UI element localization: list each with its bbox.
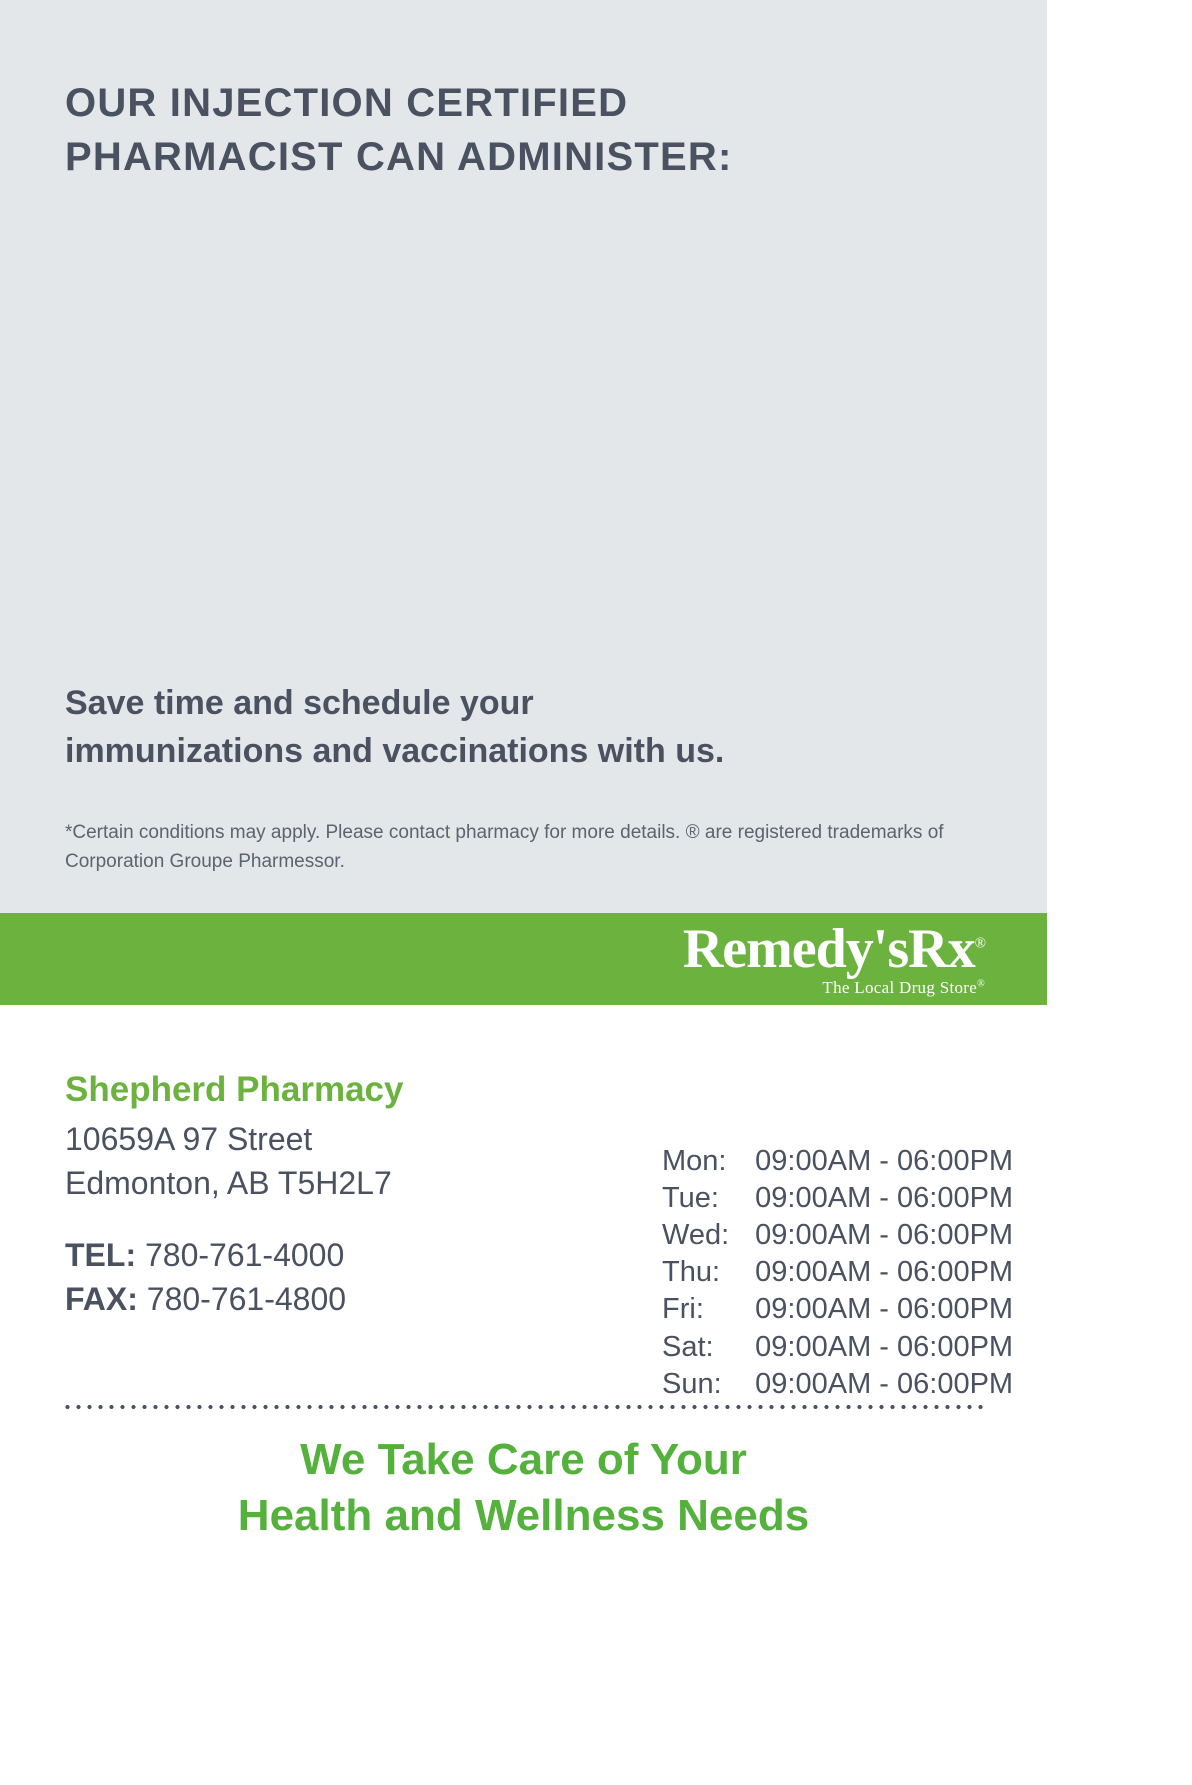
table-row: Fri: 09:00AM - 06:00PM xyxy=(662,1291,1013,1328)
fax-label: FAX: xyxy=(65,1281,138,1317)
disclaimer-line-1: *Certain conditions may apply. Please co… xyxy=(65,818,980,847)
telephone-line: TEL: 780-761-4000 xyxy=(65,1233,605,1277)
hours-day-label: Mon: xyxy=(662,1143,755,1180)
logo-tagline-text: The Local Drug Store xyxy=(822,978,977,997)
hours-time-value: 09:00AM - 06:00PM xyxy=(755,1143,1013,1180)
table-row: Mon: 09:00AM - 06:00PM xyxy=(662,1143,1013,1180)
logo-tagline: The Local Drug Store® xyxy=(683,979,985,996)
hours-day-label: Tue: xyxy=(662,1180,755,1217)
logo-wordmark: Remedy'sRx® xyxy=(683,921,985,977)
table-row: Tue: 09:00AM - 06:00PM xyxy=(662,1180,1013,1217)
logo-wordmark-text: Remedy'sRx xyxy=(683,918,975,980)
fax-value: 780-761-4800 xyxy=(147,1281,346,1317)
bottom-tagline: We Take Care of Your Health and Wellness… xyxy=(0,1432,1047,1545)
hours-time-value: 09:00AM - 06:00PM xyxy=(755,1254,1013,1291)
hours-time-value: 09:00AM - 06:00PM xyxy=(755,1329,1013,1366)
page-title: OUR INJECTION CERTIFIED PHARMACIST CAN A… xyxy=(65,76,965,184)
telephone-label: TEL: xyxy=(65,1237,136,1273)
hours-time-value: 09:00AM - 06:00PM xyxy=(755,1291,1013,1328)
top-panel: OUR INJECTION CERTIFIED PHARMACIST CAN A… xyxy=(0,0,1047,913)
address-line-1: 10659A 97 Street xyxy=(65,1117,605,1161)
info-section: Shepherd Pharmacy 10659A 97 Street Edmon… xyxy=(0,1005,1047,1785)
store-info-block: Shepherd Pharmacy 10659A 97 Street Edmon… xyxy=(65,1067,605,1321)
hours-time-value: 09:00AM - 06:00PM xyxy=(755,1217,1013,1254)
bottom-tagline-line-1: We Take Care of Your xyxy=(0,1432,1047,1488)
tagline-registered-trademark-icon: ® xyxy=(977,978,985,989)
hours-day-label: Wed: xyxy=(662,1217,755,1254)
store-hours-body: Mon: 09:00AM - 06:00PM Tue: 09:00AM - 06… xyxy=(662,1143,1013,1403)
hours-day-label: Sun: xyxy=(662,1366,755,1403)
store-address: 10659A 97 Street Edmonton, AB T5H2L7 xyxy=(65,1117,605,1205)
registered-trademark-icon: ® xyxy=(975,935,985,951)
hours-day-label: Fri: xyxy=(662,1291,755,1328)
fax-line: FAX: 780-761-4800 xyxy=(65,1277,605,1321)
dotted-divider xyxy=(62,1404,987,1410)
subheading: Save time and schedule your immunization… xyxy=(65,680,925,775)
store-contact: TEL: 780-761-4000 FAX: 780-761-4800 xyxy=(65,1233,605,1321)
flyer-page: OUR INJECTION CERTIFIED PHARMACIST CAN A… xyxy=(0,0,1047,1785)
table-row: Sat: 09:00AM - 06:00PM xyxy=(662,1329,1013,1366)
subheading-line-2: immunizations and vaccinations with us. xyxy=(65,728,925,776)
store-name: Shepherd Pharmacy xyxy=(65,1067,605,1113)
table-row: Sun: 09:00AM - 06:00PM xyxy=(662,1366,1013,1403)
table-row: Wed: 09:00AM - 06:00PM xyxy=(662,1217,1013,1254)
page-title-line-2: PHARMACIST CAN ADMINISTER: xyxy=(65,130,965,184)
page-title-line-1: OUR INJECTION CERTIFIED xyxy=(65,76,965,130)
disclaimer-line-2: Corporation Groupe Pharmessor. xyxy=(65,847,980,876)
hours-day-label: Sat: xyxy=(662,1329,755,1366)
table-row: Thu: 09:00AM - 06:00PM xyxy=(662,1254,1013,1291)
store-hours-table: Mon: 09:00AM - 06:00PM Tue: 09:00AM - 06… xyxy=(662,1143,1013,1403)
hours-day-label: Thu: xyxy=(662,1254,755,1291)
address-line-2: Edmonton, AB T5H2L7 xyxy=(65,1161,605,1205)
remedysrx-logo: Remedy'sRx® The Local Drug Store® xyxy=(683,921,985,996)
disclaimer-text: *Certain conditions may apply. Please co… xyxy=(65,818,980,877)
hours-time-value: 09:00AM - 06:00PM xyxy=(755,1180,1013,1217)
hours-time-value: 09:00AM - 06:00PM xyxy=(755,1366,1013,1403)
telephone-value[interactable]: 780-761-4000 xyxy=(145,1237,344,1273)
bottom-tagline-line-2: Health and Wellness Needs xyxy=(0,1488,1047,1544)
subheading-line-1: Save time and schedule your xyxy=(65,680,925,728)
brand-band: Remedy'sRx® The Local Drug Store® xyxy=(0,913,1047,1005)
